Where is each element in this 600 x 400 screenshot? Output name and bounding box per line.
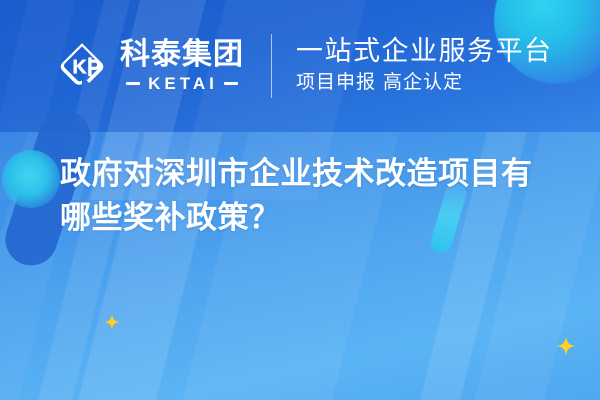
sparkle-star-icon — [556, 336, 576, 356]
logo-wordmark: 科泰集团 KETAI — [120, 40, 244, 92]
cyan-blob — [2, 150, 60, 208]
logo-english-row: KETAI — [120, 75, 244, 92]
ketai-diamond-kp-logo-icon — [56, 40, 108, 92]
brand-logo[interactable]: 科泰集团 KETAI — [56, 40, 244, 92]
logo-english-name: KETAI — [148, 75, 218, 92]
slogan-block: 一站式企业服务平台 项目申报 高企认定 — [296, 37, 553, 95]
vertical-divider — [271, 34, 272, 98]
header-content: 科泰集团 KETAI 一站式企业服务平台 项目申报 高企认定 — [0, 0, 600, 132]
logo-chinese-name: 科泰集团 — [120, 40, 244, 70]
promo-banner: 科泰集团 KETAI 一站式企业服务平台 项目申报 高企认定 政府对深圳市企业技… — [0, 0, 600, 400]
logo-left-dash-icon — [126, 82, 140, 85]
title-area: 政府对深圳市企业技术改造项目有哪些奖补政策？ — [60, 152, 560, 240]
slogan-main-text: 一站式企业服务平台 — [296, 37, 553, 67]
slogan-sub-text: 项目申报 高企认定 — [296, 71, 553, 95]
sparkle-star-icon — [104, 314, 120, 330]
logo-right-dash-icon — [224, 82, 238, 85]
page-title: 政府对深圳市企业技术改造项目有哪些奖补政策？ — [60, 152, 560, 240]
